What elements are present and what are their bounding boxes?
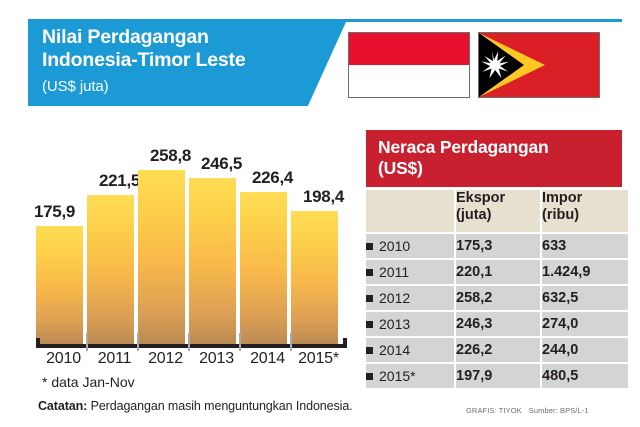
page-title: Nilai Perdagangan Indonesia-Timor Leste [42,26,342,72]
bar-value-label: 246,5 [201,154,242,174]
indonesia-flag-white-band [349,65,469,97]
bar-2013 [189,178,236,344]
footnote-catatan: Catatan: Perdagangan masih menguntungkan… [38,399,353,413]
table-row: 2014 226,2 244,0 [366,338,628,362]
bar-2014 [240,192,287,344]
table-cell-year: 2014 [366,338,454,362]
table-cell-ekspor: 246,3 [456,312,540,336]
chart-axis-tick [86,333,88,351]
table-row: 2013 246,3 274,0 [366,312,628,336]
table-header-impor-line1: Impor [542,190,628,207]
credit-line: GRAFIS: TIYOKSumber: BPS/L-1 [466,406,589,415]
table-cell-impor: 274,0 [542,312,628,336]
timor-leste-flag [478,32,600,98]
table-cell-year: 2013 [366,312,454,336]
credit-graphic: GRAFIS: TIYOK [466,406,522,415]
table-banner-line1: Neraca Perdagangan [378,137,622,158]
table-header-row: Ekspor (juta) Impor (ribu) [366,190,628,232]
bar-2011 [87,195,134,344]
footnote-catatan-text: Perdagangan masih menguntungkan Indonesi… [87,399,352,413]
chart-axis-cap-right [343,338,347,348]
table-cell-year: 2015* [366,364,454,388]
chart-axis-labels: 2010 2011 2012 2013 2014 2015* [30,350,352,372]
footnote-catatan-label: Catatan: [38,399,87,413]
bar-2012 [138,170,185,344]
table-row: 2011 220,1 1.424,9 [366,260,628,284]
axis-label-2013: 2013 [189,350,244,368]
bullet-square-icon [366,347,373,354]
axis-label-2010: 2010 [36,350,91,368]
chart-axis-tick [290,333,292,351]
timor-leste-flag-art [479,33,599,97]
footnote-star-note: * data Jan-Nov [42,374,135,390]
table-cell-year-text: 2013 [379,316,410,332]
bullet-square-icon [366,295,373,302]
bar-value-label: 258,8 [150,146,191,166]
bullet-square-icon [366,373,373,380]
page-subtitle: (US$ juta) [42,78,109,95]
bar-2015 [291,211,338,344]
table-row: 2012 258,2 632,5 [366,286,628,310]
page-title-line1: Nilai Perdagangan [42,26,209,48]
table-cell-year-text: 2012 [379,290,410,306]
table-cell-impor: 632,5 [542,286,628,310]
table-cell-ekspor: 175,3 [456,234,540,258]
table-cell-impor: 1.424,9 [542,260,628,284]
neraca-table: Neraca Perdagangan (US$) Ekspor (juta) I… [366,130,622,390]
table-header-impor: Impor (ribu) [542,190,628,232]
bar-value-label: 198,4 [303,187,344,207]
table-banner-line2: (US$) [378,158,622,179]
chart-axis-cap-left [36,338,40,348]
table-header-blank [366,190,454,232]
indonesia-flag [348,32,470,98]
table-cell-year: 2012 [366,286,454,310]
chart-axis-tick [188,333,190,351]
bar-chart: 175,9221,5258,8246,5226,4198,4 [30,112,352,344]
credit-source: Sumber: BPS/L-1 [529,406,589,415]
bar-2010 [36,226,83,344]
table-cell-year: 2010 [366,234,454,258]
bullet-square-icon [366,269,373,276]
table-banner: Neraca Perdagangan (US$) [366,130,622,187]
table-cell-impor: 633 [542,234,628,258]
table-row: 2010 175,3 633 [366,234,628,258]
bar-value-label: 175,9 [34,202,75,222]
table-cell-ekspor: 220,1 [456,260,540,284]
bar-value-label: 226,4 [252,168,293,188]
table-cell-year-text: 2015* [379,368,416,384]
table-cell-ekspor: 197,9 [456,364,540,388]
axis-label-2015: 2015* [291,350,346,368]
table-cell-ekspor: 258,2 [456,286,540,310]
indonesia-flag-red-band [349,33,469,65]
table-header-ekspor: Ekspor (juta) [456,190,540,232]
page-title-line2: Indonesia-Timor Leste [42,49,342,72]
axis-label-2012: 2012 [138,350,193,368]
table-cell-ekspor: 226,2 [456,338,540,362]
table-cell-year: 2011 [366,260,454,284]
axis-label-2011: 2011 [87,350,142,368]
table-cell-year-text: 2014 [379,342,410,358]
table-cell-impor: 244,0 [542,338,628,362]
top-accent-rule [28,19,622,22]
table-header-ekspor-line1: Ekspor [456,190,540,207]
chart-axis-tick [239,333,241,351]
bullet-square-icon [366,243,373,250]
chart-axis-tick [137,333,139,351]
table-header-impor-line2: (ribu) [542,207,628,224]
table-grid: Ekspor (juta) Impor (ribu) 2010 175,3 63… [364,188,630,390]
bar-value-label: 221,5 [99,171,140,191]
table-row: 2015* 197,9 480,5 [366,364,628,388]
table-cell-impor: 480,5 [542,364,628,388]
table-header-ekspor-line2: (juta) [456,207,540,224]
infographic-root: Nilai Perdagangan Indonesia-Timor Leste … [0,0,640,427]
table-cell-year-text: 2010 [379,238,410,254]
bullet-square-icon [366,321,373,328]
table-cell-year-text: 2011 [379,264,409,280]
chart-axis-line [36,344,347,348]
axis-label-2014: 2014 [240,350,295,368]
